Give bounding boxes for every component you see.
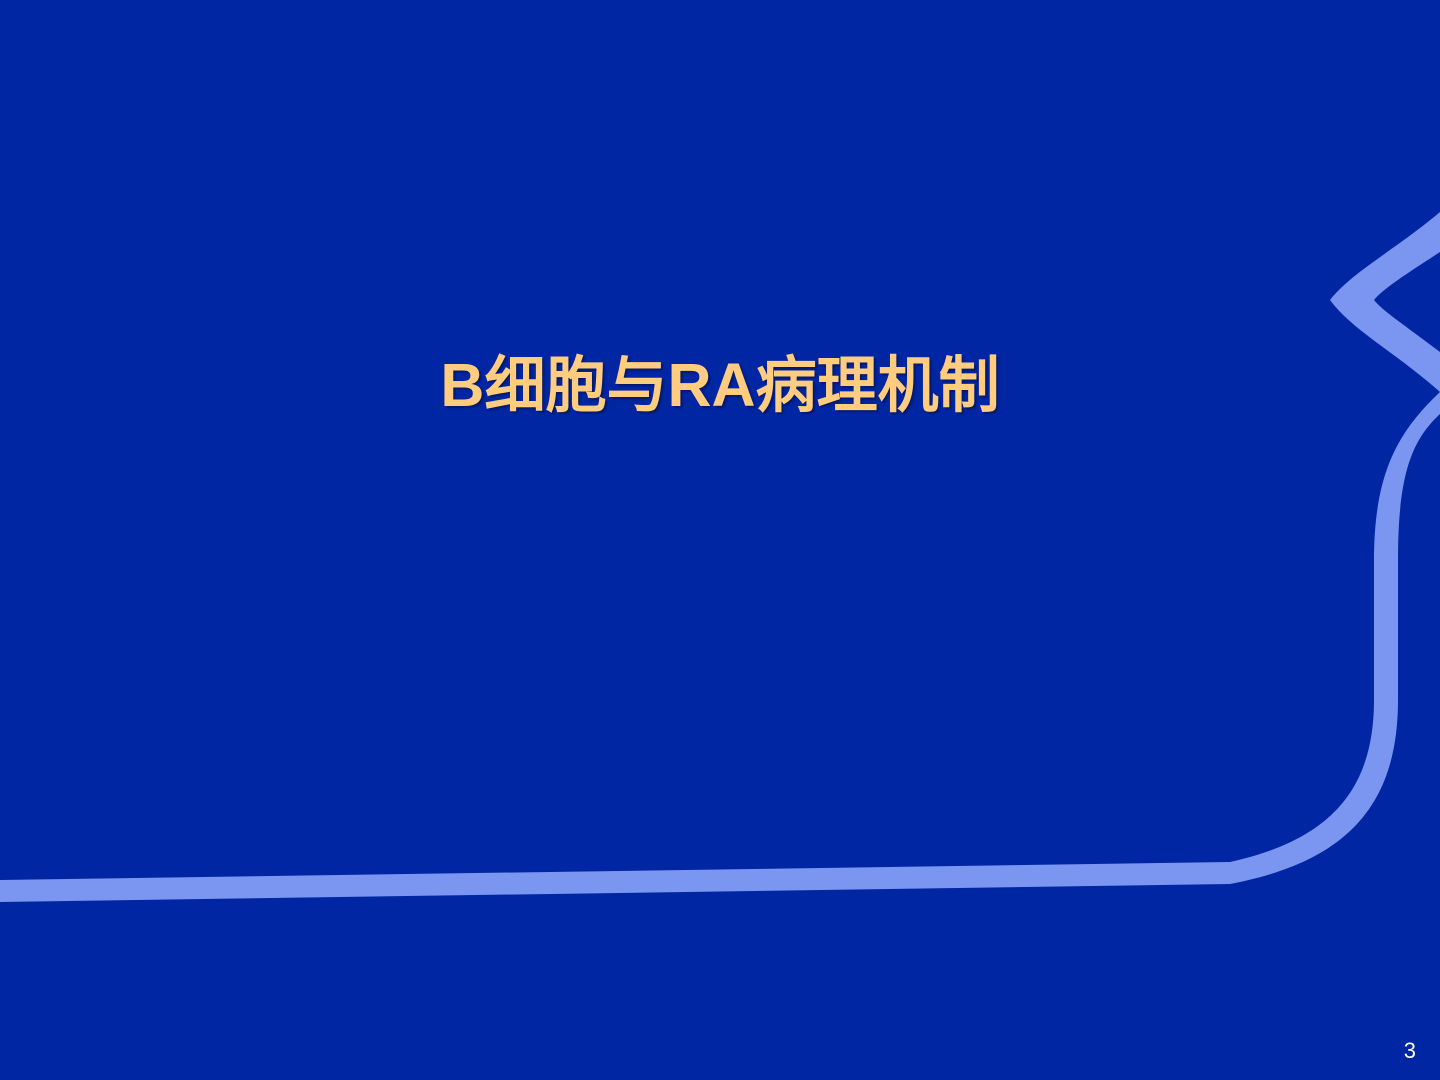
slide-title: B细胞与RA病理机制 [0, 352, 1440, 419]
page-number: 3 [1404, 1038, 1416, 1064]
blue-swoosh-decoration [0, 0, 1440, 1080]
slide: B细胞与RA病理机制 3 [0, 0, 1440, 1080]
